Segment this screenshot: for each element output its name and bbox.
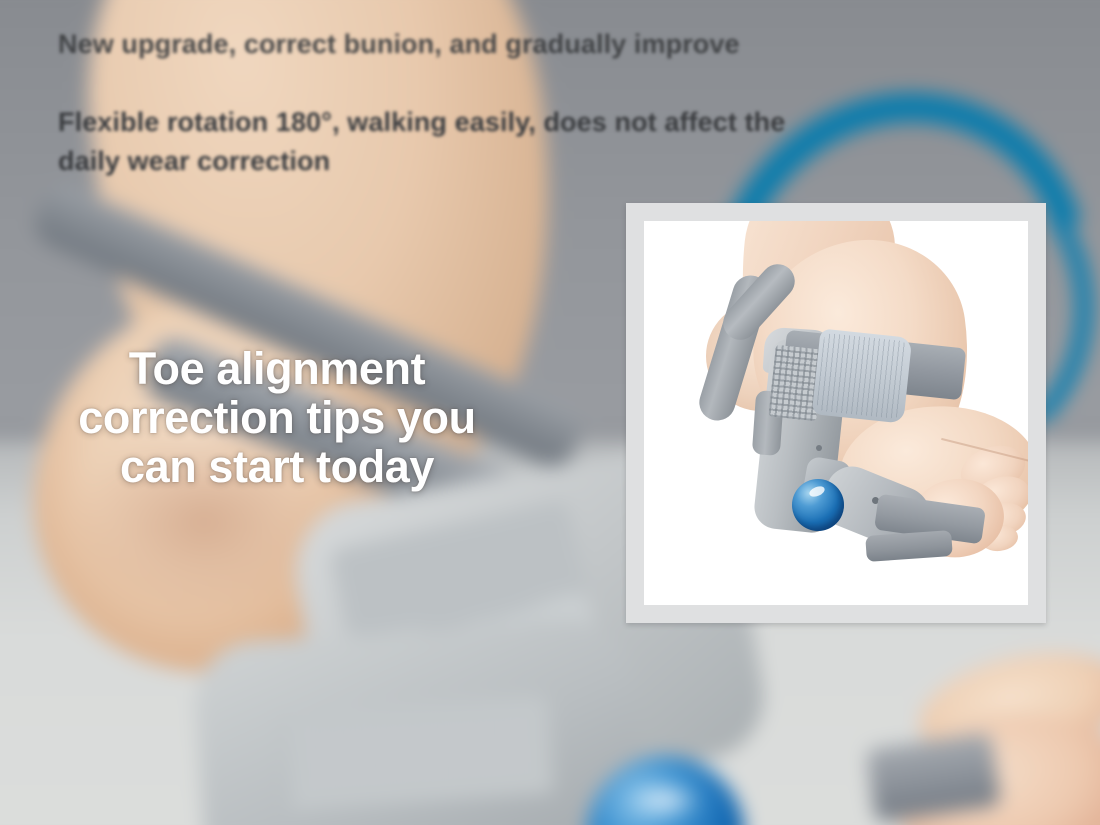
packaging-caption: New upgrade, correct bunion, and gradual… (58, 0, 978, 181)
bg-gel-ball-highlight (629, 783, 702, 819)
inset-screw-upper (816, 445, 822, 451)
headline-text: Toe alignment correction tips you can st… (52, 344, 502, 491)
inset-instep-pad-ribs (816, 333, 908, 419)
inset-product-photo (644, 221, 1028, 605)
inset-photo-frame (626, 203, 1046, 623)
image-canvas: New upgrade, correct bunion, and gradual… (0, 0, 1100, 825)
packaging-caption-line: Flexible rotation 180°, walking easily, … (58, 107, 785, 176)
inset-toe-strap-lower (865, 530, 953, 562)
packaging-caption-cutoff-line: New upgrade, correct bunion, and gradual… (58, 25, 978, 64)
bg-splint-mesh-lower (284, 695, 553, 813)
